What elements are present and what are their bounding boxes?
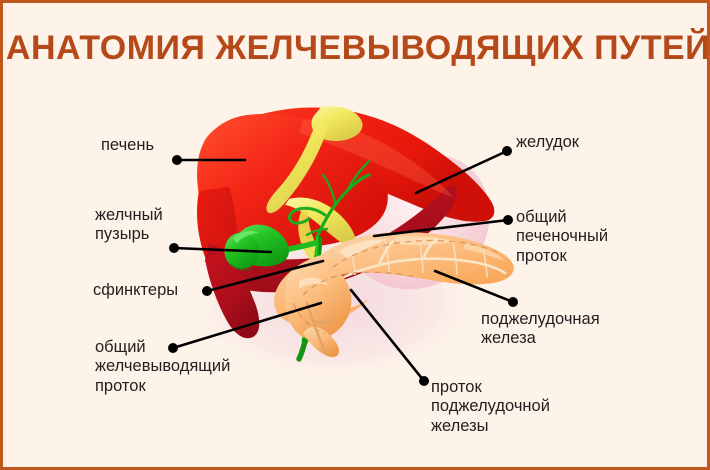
label-common-bile-duct: общий желчевыводящий проток bbox=[95, 338, 230, 396]
anatomy-infographic: АНАТОМИЯ ЖЕЛЧЕВЫВОДЯЩИХ ПУТЕЙ bbox=[0, 0, 710, 470]
label-pancreatic-duct: проток поджелудочной железы bbox=[431, 378, 550, 436]
leader-dot-liver bbox=[172, 155, 182, 165]
leader-dot-pancreatic-duct bbox=[419, 376, 429, 386]
label-common-hepatic-duct: общий печеночный проток bbox=[516, 208, 608, 266]
label-liver: печень bbox=[101, 136, 154, 155]
leader-dot-stomach bbox=[502, 146, 512, 156]
label-stomach: желудок bbox=[516, 133, 579, 152]
leader-dot-gallbladder bbox=[169, 243, 179, 253]
label-sphincters: сфинктеры bbox=[93, 281, 178, 300]
label-pancreas: поджелудочная железа bbox=[481, 310, 600, 349]
label-gallbladder: желчный пузырь bbox=[95, 206, 163, 245]
leader-dot-common-hepatic-duct bbox=[503, 215, 513, 225]
leader-dot-sphincters bbox=[202, 286, 212, 296]
leader-dot-pancreas bbox=[508, 297, 518, 307]
